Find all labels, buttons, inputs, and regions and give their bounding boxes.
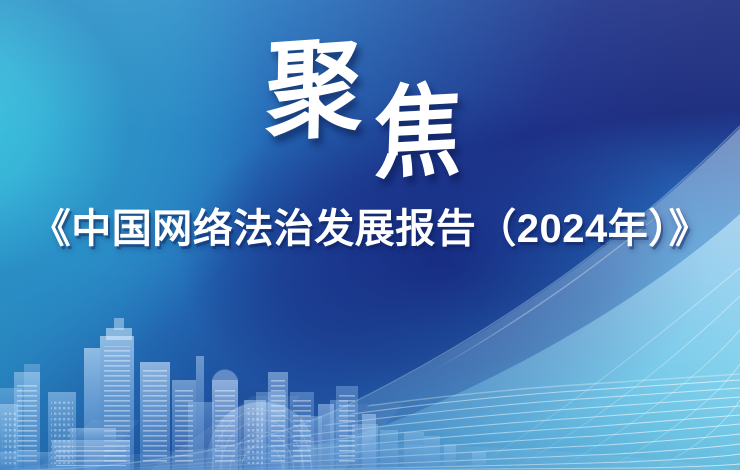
page-title: 《中国网络法治发展报告（2024年）》	[0, 206, 740, 253]
brush-char-ju: 聚	[265, 33, 363, 148]
promo-banner: 聚 焦 《中国网络法治发展报告（2024年）》	[0, 0, 740, 470]
brush-headline: 聚 焦	[0, 34, 740, 184]
brush-char-jiao: 焦	[372, 79, 463, 184]
